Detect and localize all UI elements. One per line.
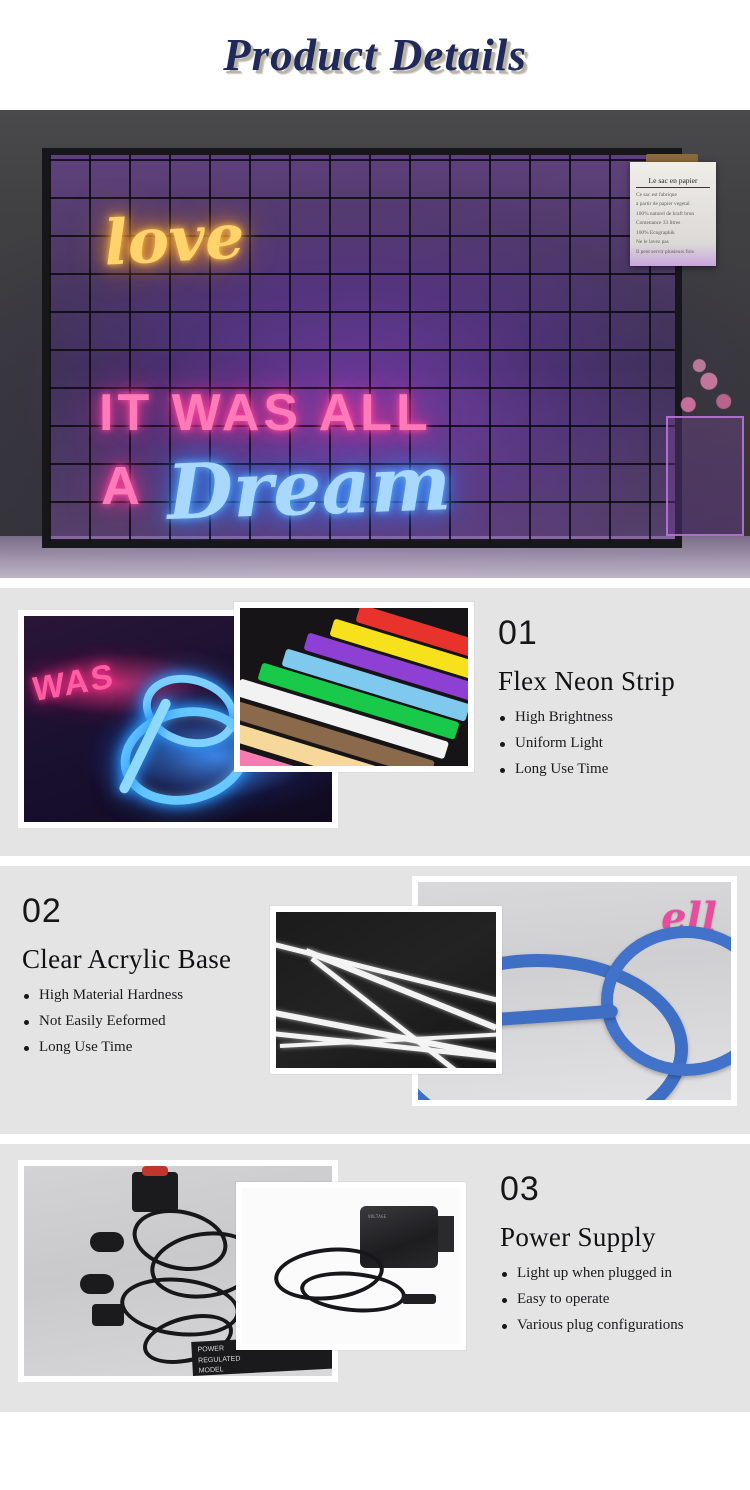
neon-text-love: love [102, 199, 246, 279]
neon-text-a: A [101, 455, 140, 517]
page-header: Product Details [0, 0, 750, 110]
uk-plug [132, 1172, 178, 1212]
neon-text-it-was-all: IT WAS ALL [99, 383, 432, 443]
feature-text-02: 02 Clear Acrylic Base High Material Hard… [22, 894, 284, 1065]
list-item: High Brightness [498, 709, 738, 726]
uk-plug-pin [142, 1166, 168, 1176]
list-item: Uniform Light [498, 735, 738, 752]
section-divider [0, 856, 750, 866]
paper-tag-line: a partir de papier vegetal [636, 200, 710, 209]
list-item: High Material Hardness [22, 987, 284, 1004]
neon-text-dream: Dream [166, 438, 453, 537]
list-item: Long Use Time [498, 761, 738, 778]
paper-tag-line: Ne le lavez pas [636, 238, 710, 247]
list-item: Easy to operate [500, 1291, 740, 1308]
paper-tag-line: Il peut servir plusieurs fois [636, 248, 710, 257]
paper-tag-line: Contenance 33 litres [636, 219, 710, 228]
adapter-prongs [438, 1216, 454, 1252]
list-item: Various plug configurations [500, 1317, 740, 1334]
paper-tag-line: 100% naturel de kraft brun [636, 210, 710, 219]
feature-bullet-list: High Brightness Uniform Light Long Use T… [498, 709, 738, 778]
feature-title: Clear Acrylic Base [22, 944, 284, 975]
paper-tag-line: Ce sac est fabrique [636, 191, 710, 200]
page-title: Product Details [223, 29, 527, 81]
feature-section-02: ell 02 Clear Acrylic Base High Material … [0, 866, 750, 1134]
feature-text-03: 03 Power Supply Light up when plugged in… [500, 1172, 740, 1343]
adapter-spec-text: VOLTAGE [368, 1214, 386, 1220]
list-item: Light up when plugged in [500, 1265, 740, 1282]
feature-text-01: 01 Flex Neon Strip High Brightness Unifo… [498, 616, 738, 787]
feature-bullet-list: Light up when plugged in Easy to operate… [500, 1265, 740, 1334]
list-item: Not Easily Eeformed [22, 1013, 284, 1030]
list-item: Long Use Time [22, 1039, 284, 1056]
hero-image: love IT WAS ALL A Dream Le sac en papier… [0, 110, 750, 578]
feature-title: Flex Neon Strip [498, 666, 738, 697]
colored-neon-strips-photo [234, 602, 474, 772]
us-plug [92, 1304, 124, 1326]
feature-number: 01 [498, 616, 738, 650]
wire-grid-panel: love IT WAS ALL A Dream [42, 148, 682, 548]
plant-stand [666, 416, 744, 536]
page-footer-space [0, 1412, 750, 1462]
feature-number: 03 [500, 1172, 740, 1206]
section-divider [0, 578, 750, 588]
eu-plug-2 [80, 1274, 114, 1294]
eu-plug [90, 1232, 124, 1252]
feature-number: 02 [22, 894, 284, 928]
section-divider [0, 1134, 750, 1144]
feature-section-01: WAS 01 Flex Neon Strip High Brightness U… [0, 588, 750, 856]
dc-barrel-connector [402, 1294, 436, 1304]
feature-section-03: POWER REGULATED MODEL VOLTAGE 03 Power S… [0, 1144, 750, 1412]
feature-title: Power Supply [500, 1222, 740, 1253]
paper-bag-tag: Le sac en papier Ce sac est fabrique a p… [630, 162, 716, 266]
paper-tag-line: 100% Ecographik [636, 229, 710, 238]
power-adapter-photo: VOLTAGE [236, 1182, 466, 1350]
feature-bullet-list: High Material Hardness Not Easily Eeform… [22, 987, 284, 1056]
clear-acrylic-sheets-photo [270, 906, 502, 1074]
paper-tag-heading: Le sac en papier [636, 176, 710, 188]
